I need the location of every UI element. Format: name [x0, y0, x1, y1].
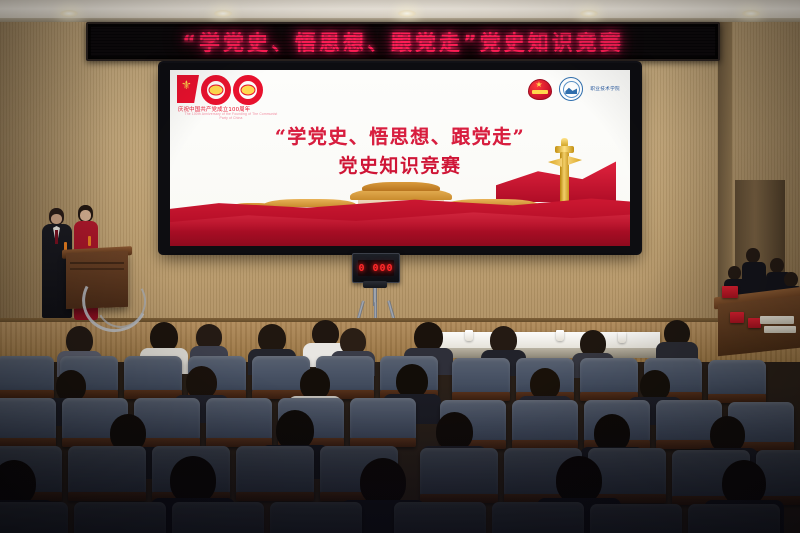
paper-stack: [760, 316, 794, 324]
auditorium-seat[interactable]: [688, 504, 780, 533]
logo-zero-icon: [201, 75, 231, 105]
logo-zero-icon: [233, 75, 263, 105]
college-name-label: 职业技术学院: [590, 86, 620, 92]
led-banner: “学党史、悟思想、跟党走”党史知识竞赛: [86, 22, 720, 61]
auditorium-seat[interactable]: [708, 360, 766, 396]
auditorium-seat[interactable]: [492, 502, 584, 533]
judge-placard: [722, 286, 738, 298]
paper-cup: [556, 330, 564, 341]
auditorium-seat[interactable]: [0, 356, 54, 392]
communist-youth-league-icon: ★: [528, 79, 552, 100]
head: [170, 456, 216, 504]
auditorium-seat[interactable]: [172, 502, 264, 533]
head: [784, 272, 798, 287]
auditorium-seat[interactable]: [590, 504, 682, 533]
necktie: [55, 230, 58, 244]
head: [360, 458, 406, 506]
auditorium-seat[interactable]: [394, 502, 486, 533]
podium-trim: [70, 262, 124, 264]
auditorium-seat[interactable]: [0, 502, 68, 533]
microphone-icon: [88, 236, 91, 246]
head: [728, 266, 741, 280]
face: [80, 210, 91, 221]
college-seal-icon: [559, 77, 583, 101]
auditorium-seat[interactable]: [270, 502, 362, 533]
cpc-logo-mark: ⚜: [175, 74, 283, 106]
auditorium-seat[interactable]: [452, 358, 510, 394]
hammer-sickle-icon: ⚜: [181, 79, 194, 92]
downlight-icon: [742, 10, 760, 17]
presentation-slide: ⚜ 庆祝中国共产党成立100周年 The 100th Anniversary o…: [170, 70, 630, 246]
cyl-badge-bar: [532, 90, 548, 94]
auditorium-scene: “学党史、悟思想、跟党走”党史知识竞赛 ⚜ 庆祝中国共产党成立100周年 The…: [0, 0, 800, 533]
timer-screen: 0 000: [358, 260, 394, 276]
countdown-timer-display: 0 000: [352, 253, 400, 283]
head: [396, 364, 428, 398]
head: [746, 248, 760, 263]
head: [276, 410, 314, 450]
seal-emblem-icon: [565, 87, 577, 94]
party-flag-icon: ⚜: [177, 75, 199, 103]
downlight-icon: [580, 10, 598, 17]
contestant-table-front: [432, 348, 658, 358]
auditorium-seat[interactable]: [124, 356, 182, 392]
auditorium-seat[interactable]: [350, 398, 416, 440]
downlight-icon: [214, 10, 232, 17]
auditorium-seat[interactable]: [68, 446, 146, 494]
auditorium-seat[interactable]: [236, 446, 314, 494]
main-hall-upper-roof: [362, 182, 440, 191]
huabiao-wing-left: [548, 158, 562, 167]
face: [51, 214, 62, 224]
tripod-head: [363, 281, 387, 288]
paper-cup: [618, 332, 626, 343]
cpc-centenary-logo: ⚜ 庆祝中国共产党成立100周年 The 100th Anniversary o…: [175, 74, 283, 122]
star-icon: ★: [535, 81, 542, 89]
head: [770, 258, 784, 273]
auditorium-seat[interactable]: [512, 400, 578, 442]
paper-cup: [465, 330, 473, 341]
downlight-icon: [398, 10, 416, 17]
led-scanline-overlay: [88, 24, 718, 59]
auditorium-seat[interactable]: [74, 502, 166, 533]
huabiao-wing-right: [568, 156, 582, 165]
downlight-icon: [60, 10, 78, 17]
timer-digits: 0 000: [358, 263, 393, 274]
auditorium-seat[interactable]: [420, 448, 498, 496]
head: [556, 456, 602, 504]
auditorium-seat[interactable]: [0, 398, 56, 440]
auditorium-seat[interactable]: [206, 398, 272, 440]
auditorium-seat[interactable]: [580, 358, 638, 394]
cpc-logo-english-caption: The 100th Anniversary of the Founding of…: [181, 112, 281, 120]
organization-logos: ★ 职业技术学院: [528, 76, 620, 102]
paper-stack: [764, 326, 796, 333]
judge-placard: [730, 312, 744, 323]
